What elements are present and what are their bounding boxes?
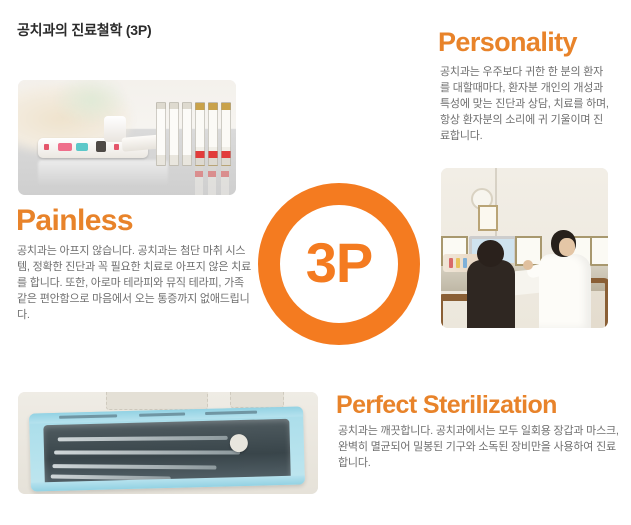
cartridge [182, 102, 192, 166]
section-heading-sterilization: Perfect Sterilization [336, 391, 557, 420]
section-body-personality: 공치과는 우주보다 귀한 한 분의 환자를 대할때마다, 환자분 개인의 개성과… [440, 64, 612, 144]
handpiece-button-dark [96, 141, 106, 152]
background-pouch [106, 392, 208, 410]
section-body-sterilization: 공치과는 깨끗합니다. 공치과에서는 모두 일회용 장갑과 마스크, 완벽히 멸… [338, 423, 624, 471]
dental-anesthesia-device-photo [18, 80, 236, 195]
page-root: 공치과의 진료철학 (3P) Painless 공치과는 아프지 않습니다. 공… [0, 0, 631, 525]
dental-instrument [58, 436, 228, 441]
pouch-print [205, 411, 257, 415]
pouch-print [139, 413, 185, 417]
cartridge-reflection [195, 166, 203, 195]
handpiece-button-pink [58, 143, 72, 151]
three-p-badge: 3P [258, 183, 420, 345]
page-title: 공치과의 진료철학 (3P) [17, 20, 151, 40]
cartridge [156, 102, 166, 166]
cartridge [221, 102, 231, 166]
background-pouch-2 [230, 392, 284, 408]
patient-figure [467, 260, 515, 328]
sterilization-pouch [29, 406, 305, 491]
wall-certificate-frame [478, 205, 498, 231]
three-p-badge-label: 3P [306, 235, 373, 291]
section-heading-personality: Personality [438, 27, 577, 58]
sterilized-instrument-pouch-photo [18, 392, 318, 494]
section-body-painless: 공치과는 아프지 않습니다. 공치과는 첨단 마취 시스템, 정확한 진단과 꼭… [17, 243, 253, 323]
cartridge [208, 102, 218, 166]
cartridge-reflection [221, 166, 229, 195]
anesthetic-cartridge-group [156, 102, 230, 170]
certificate-frame [590, 236, 608, 266]
handpiece-button-teal [76, 143, 88, 151]
dental-instrument [52, 464, 216, 469]
cartridge [195, 102, 205, 166]
cartridge-reflection [208, 166, 216, 195]
doctor-hand [523, 260, 533, 270]
doctor-patient-consultation-photo [441, 168, 608, 328]
pouch-print [59, 414, 117, 419]
patient-head [477, 240, 504, 267]
doctor-face [559, 238, 575, 256]
dental-instrument [54, 451, 240, 455]
photo-table-reflection [38, 160, 168, 186]
dental-mirror [230, 434, 248, 452]
cartridge [169, 102, 179, 166]
section-heading-painless: Painless [16, 204, 133, 238]
handpiece-button-red [44, 144, 49, 150]
handpiece-button-red-2 [114, 144, 119, 150]
